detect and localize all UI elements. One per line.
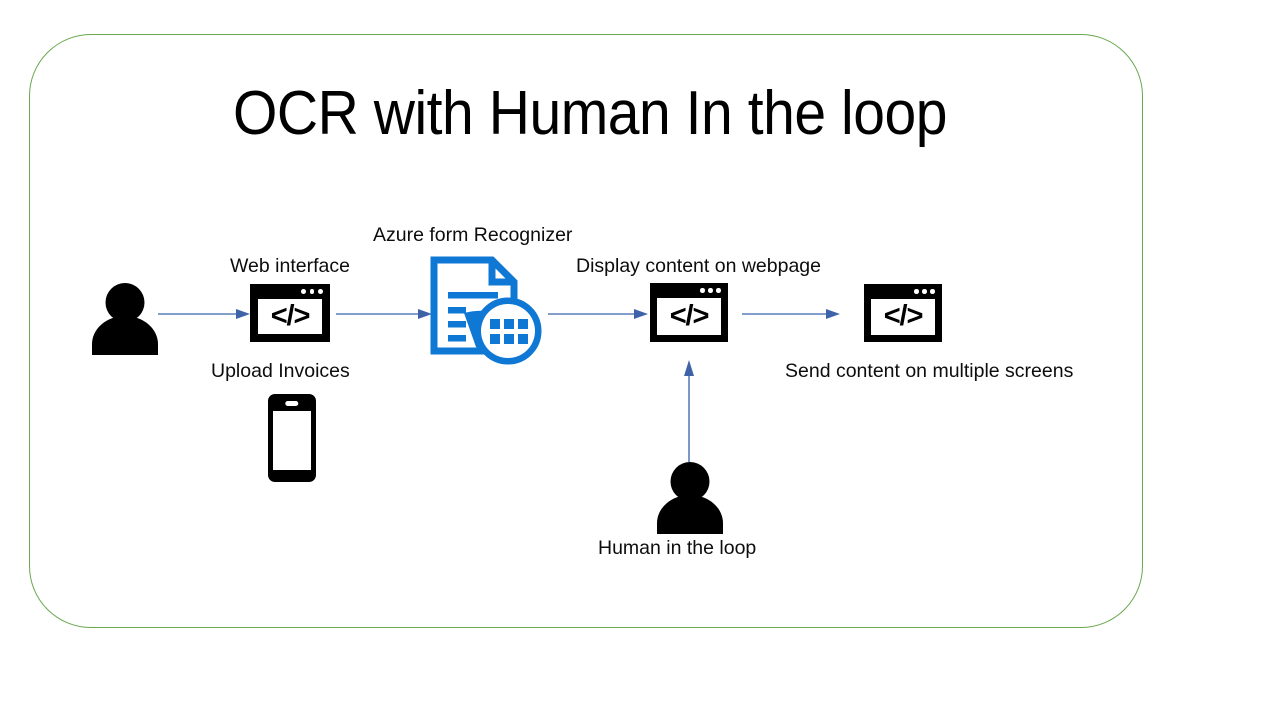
slide-canvas: OCR with Human In the loop Web interface… (0, 0, 1280, 720)
page-title: OCR with Human In the loop (158, 76, 1023, 152)
browser-dot-icon (700, 288, 705, 293)
label-human-in-the-loop: Human in the loop (598, 536, 756, 560)
browser-dot-icon (922, 289, 927, 294)
label-azure-form-recognizer: Azure form Recognizer (373, 223, 572, 247)
person-icon-user (92, 283, 158, 355)
browser-dot-icon (318, 289, 323, 294)
code-glyph: </> (884, 302, 922, 331)
browser-dot-icon (301, 289, 306, 294)
phone-screen (273, 411, 311, 470)
browser-dot-icon (914, 289, 919, 294)
browser-title-bar (250, 284, 330, 299)
browser-dot-icon (708, 288, 713, 293)
browser-screen: </> (258, 299, 323, 334)
browser-code-icon-web-interface: </> (250, 284, 330, 342)
browser-dot-icon (930, 289, 935, 294)
browser-code-icon-display-content: </> (650, 283, 728, 342)
arrow-human-to-display-content (681, 360, 697, 462)
label-web-interface: Web interface (230, 254, 350, 278)
browser-title-bar (650, 283, 728, 298)
phone-speaker-icon (285, 401, 298, 406)
person-body (92, 316, 158, 355)
arrow-web-interface-to-azure (336, 306, 432, 322)
browser-dot-icon (716, 288, 721, 293)
label-send-content-multiple-screens: Send content on multiple screens (785, 359, 1073, 383)
arrow-display-content-to-multiple-screens (742, 306, 840, 322)
browser-title-bar (864, 284, 942, 299)
smartphone-icon (268, 394, 316, 482)
arrow-user-to-web-interface (158, 306, 250, 322)
label-upload-invoices: Upload Invoices (211, 359, 350, 383)
label-display-content: Display content on webpage (576, 254, 821, 278)
person-icon-human-in-the-loop (657, 462, 723, 534)
arrow-azure-to-display-content (548, 306, 648, 322)
browser-code-icon-multiple-screens: </> (864, 284, 942, 342)
browser-dot-icon (310, 289, 315, 294)
code-glyph: </> (670, 302, 708, 331)
browser-screen: </> (657, 298, 720, 334)
person-body (657, 495, 723, 534)
azure-form-recognizer-icon (430, 255, 546, 367)
browser-screen: </> (871, 299, 934, 335)
code-glyph: </> (271, 302, 309, 331)
